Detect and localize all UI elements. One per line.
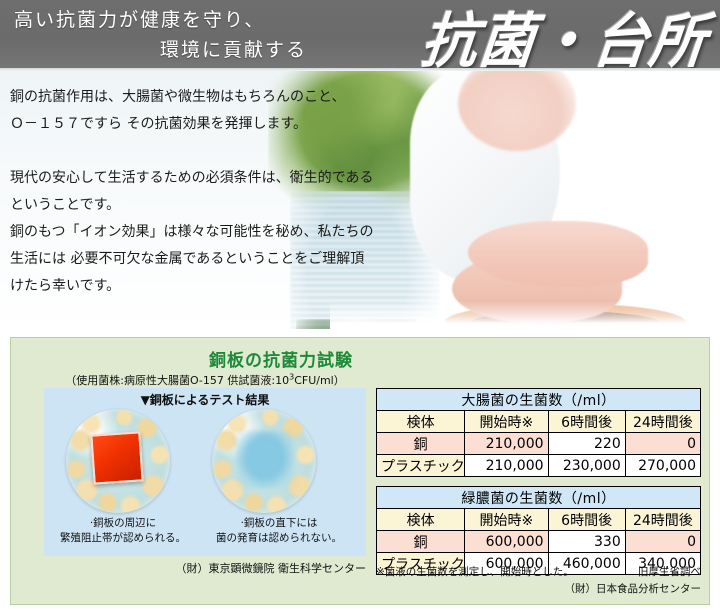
column-header-24h: 24時間後 [625, 509, 700, 531]
table-header-row: 検体 開始時※ 6時間後 24時間後 [377, 411, 701, 433]
page-root: 高い抗菌力が健康を守り、 環境に貢献する 抗菌・台所 銅の抗菌作用は、大腸菌や微… [0, 0, 720, 616]
dish-panel-heading: ▼銅板によるテスト結果 [44, 391, 366, 408]
footnote-row: ※菌液の生菌数を測定し、開始時とした。 旧厚生省調べ [376, 564, 701, 579]
column-header-24h: 24時間後 [625, 411, 700, 433]
footnote-survey-source: 旧厚生省調べ [638, 564, 701, 579]
dish-caption-line: 繁殖阻止帯が認められる。 [48, 531, 198, 546]
table-header-row: 検体 開始時※ 6時間後 24時間後 [377, 509, 701, 531]
table-footnotes: ※菌液の生菌数を測定し、開始時とした。 旧厚生省調べ （財）日本食品分析センター [376, 564, 701, 596]
cell-value: 220 [548, 433, 625, 455]
strain-note: （使用菌株:病原性大腸菌O-157 供試菌液:103CFU/ml） [45, 372, 365, 388]
table-ecoli: 大腸菌の生菌数（/ml） 検体 開始時※ 6時間後 24時間後 銅 210,00… [376, 388, 701, 477]
footnote-asterisk: ※菌液の生菌数を測定し、開始時とした。 [376, 564, 574, 579]
inhibition-zone [236, 431, 294, 489]
column-header-6h: 6時間後 [548, 411, 625, 433]
cell-value: 230,000 [548, 455, 625, 477]
dish-caption-line: 菌の発育は認められない。 [204, 531, 354, 546]
paragraph-2: 現代の安心して生活するための必須条件は、衛生的である ということです。 銅のもつ… [10, 165, 440, 300]
column-header-specimen: 検体 [377, 509, 465, 531]
brush-title: 抗菌・台所 [417, 0, 711, 70]
petri-dish-inhibition-zone [212, 409, 316, 513]
table-title: 大腸菌の生菌数（/ml） [377, 389, 701, 411]
table-title: 緑膿菌の生菌数（/ml） [377, 487, 701, 509]
strain-note-prefix: （使用菌株:病原性大腸菌O-157 供試菌液:10 [65, 374, 289, 387]
column-header-start: 開始時※ [465, 411, 548, 433]
bacteria-count-tables: 大腸菌の生菌数（/ml） 検体 開始時※ 6時間後 24時間後 銅 210,00… [376, 388, 701, 575]
row-label-copper: 銅 [377, 433, 465, 455]
column-header-start: 開始時※ [465, 509, 548, 531]
petri-dish-panel: ▼銅板によるテスト結果 ·銅板の周辺に 繁殖阻止帯が認められる。 ·銅板の直下に… [44, 388, 366, 556]
cell-value: 600,000 [465, 531, 548, 553]
table-title-row: 緑膿菌の生菌数（/ml） [377, 487, 701, 509]
paragraph-1: 銅の抗菌作用は、大腸菌や微生物はもちろんのこと、 Ｏ－１５７ですら その抗菌効果… [10, 84, 440, 138]
row-label-plastic: プラスチック [377, 455, 465, 477]
footnote-analysis-center: （財）日本食品分析センター [376, 581, 701, 596]
copper-plate-icon [90, 431, 143, 484]
paragraph-line: 銅の抗菌作用は、大腸菌や微生物はもちろんのこと、 [10, 84, 440, 111]
row-label-copper: 銅 [377, 531, 465, 553]
dish-caption-right: ·銅板の直下には 菌の発育は認められない。 [204, 516, 354, 546]
cell-value: 210,000 [465, 455, 548, 477]
cell-value: 210,000 [465, 433, 548, 455]
table-row: 銅 210,000 220 0 [377, 433, 701, 455]
cell-value: 330 [548, 531, 625, 553]
paragraph-line: けたら幸いです。 [10, 273, 440, 300]
column-header-6h: 6時間後 [548, 509, 625, 531]
paragraph-line: 銅のもつ「イオン効果」は様々な可能性を秘め、私たちの [10, 219, 440, 246]
dish-caption-line: ·銅板の周辺に [48, 516, 198, 531]
dish-source-credit: （財）東京顕微鏡院 衛生科学センター [44, 560, 366, 576]
dish-caption-line: ·銅板の直下には [204, 516, 354, 531]
cell-value: 270,000 [625, 455, 700, 477]
antibacterial-test-panel: 銅板の抗菌力試験 （使用菌株:病原性大腸菌O-157 供試菌液:103CFU/m… [10, 337, 710, 605]
paragraph-line: Ｏ－１５７ですら その抗菌効果を発揮します。 [10, 111, 440, 138]
cell-value: 0 [625, 433, 700, 455]
panel-title: 銅板の抗菌力試験 [11, 346, 711, 371]
table-pseudomonas: 緑膿菌の生菌数（/ml） 検体 開始時※ 6時間後 24時間後 銅 600,00… [376, 486, 701, 575]
table-row: プラスチック 210,000 230,000 270,000 [377, 455, 701, 477]
table-title-row: 大腸菌の生菌数（/ml） [377, 389, 701, 411]
paragraph-line: ということです。 [10, 192, 440, 219]
column-header-specimen: 検体 [377, 411, 465, 433]
hero-fade [330, 301, 720, 329]
paragraph-line: 現代の安心して生活するための必須条件は、衛生的である [10, 165, 440, 192]
paragraph-line: 生活には 必要不可欠な金属であるということをご理解頂 [10, 246, 440, 273]
header-tagline-line1: 高い抗菌力が健康を守り、 [14, 5, 265, 32]
page-bottom-strip [0, 606, 720, 616]
strain-note-suffix: CFU/ml） [294, 374, 345, 387]
petri-dish-with-copper-plate [66, 409, 170, 513]
table-row: 銅 600,000 330 0 [377, 531, 701, 553]
header-tagline-line2: 環境に貢献する [160, 35, 307, 62]
cell-value: 0 [625, 531, 700, 553]
dish-caption-left: ·銅板の周辺に 繁殖阻止帯が認められる。 [48, 516, 198, 546]
page-header: 高い抗菌力が健康を守り、 環境に貢献する 抗菌・台所 [0, 0, 720, 70]
body-copy: 銅の抗菌作用は、大腸菌や微生物はもちろんのこと、 Ｏ－１５７ですら その抗菌効果… [10, 84, 440, 300]
